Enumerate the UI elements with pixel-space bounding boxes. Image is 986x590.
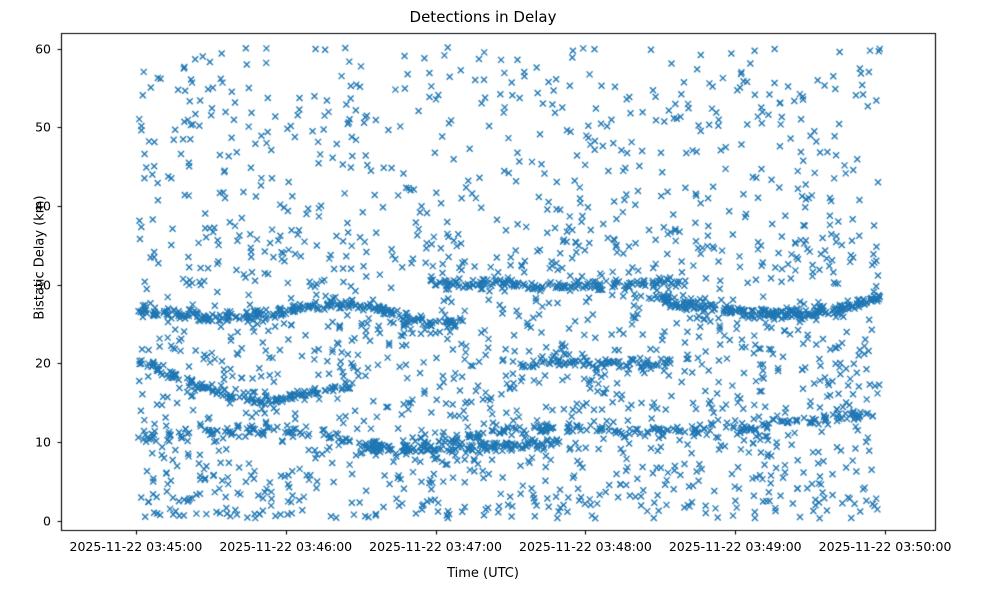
x-axis-label: Time (UTC) [0,566,986,581]
chart-title-text: Detections in Delay [410,8,557,26]
y-tick-label: 50 [19,120,51,135]
y-tick-label: 20 [19,356,51,371]
x-tick-label: 2025-11-22 03:45:00 [70,539,203,554]
x-tick-label: 2025-11-22 03:47:00 [369,539,502,554]
x-tick-label: 2025-11-22 03:46:00 [219,539,352,554]
chart-title: Detections in Delay [0,8,986,26]
matplotlib-figure: Detections in Delay Bistatic Delay (km) … [0,0,986,590]
x-tick-label: 2025-11-22 03:49:00 [669,539,802,554]
scatter-plot-canvas [0,0,986,590]
x-axis-label-text: Time (UTC) [447,566,519,581]
y-tick-label: 30 [19,277,51,292]
y-axis-label: Bistatic Delay (km) [33,88,48,428]
x-tick-label: 2025-11-22 03:50:00 [819,539,952,554]
y-tick-label: 60 [19,41,51,56]
x-tick-label: 2025-11-22 03:48:00 [519,539,652,554]
y-tick-label: 0 [19,513,51,528]
y-tick-label: 10 [19,434,51,449]
y-tick-label: 40 [19,199,51,214]
